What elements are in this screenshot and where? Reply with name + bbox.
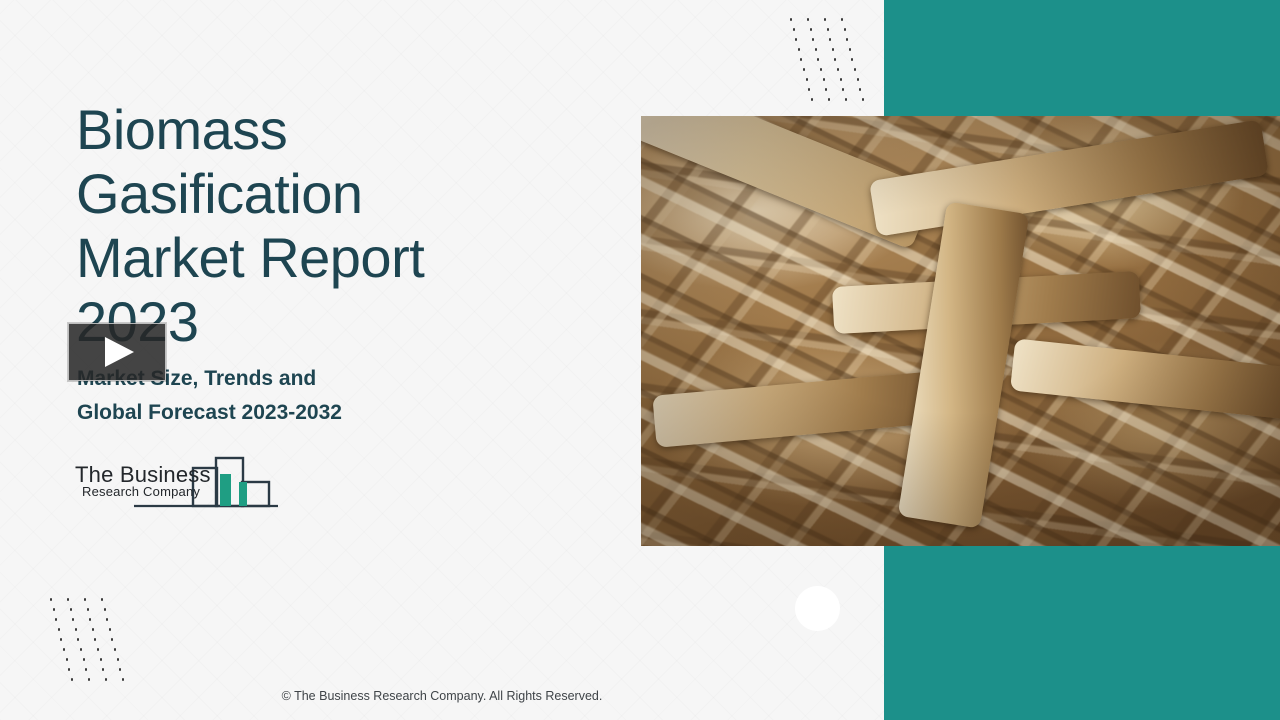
dot [104, 608, 106, 611]
dot [844, 28, 846, 31]
dot [89, 618, 91, 621]
subtitle-line-2: Global Forecast 2023-2032 [77, 396, 477, 430]
dot [100, 658, 102, 661]
dot [75, 628, 77, 631]
dot [83, 658, 85, 661]
dot [811, 98, 813, 101]
page-title: Biomass Gasification Market Report 2023 [76, 98, 496, 354]
dot [798, 48, 800, 51]
dot [854, 68, 856, 71]
dot [84, 598, 86, 601]
video-play-button[interactable] [68, 323, 166, 381]
logo-text-secondary: Research Company [82, 484, 200, 499]
dot [842, 88, 844, 91]
dot [810, 28, 812, 31]
dot [807, 18, 809, 21]
dot [80, 648, 82, 651]
dot [795, 38, 797, 41]
dot [815, 48, 817, 51]
dot [60, 638, 62, 641]
play-triangle-icon [105, 337, 134, 367]
dot [828, 98, 830, 101]
dot [806, 78, 808, 81]
hero-image-biomass [641, 116, 1280, 546]
dot [820, 68, 822, 71]
dot [105, 678, 107, 681]
dot [800, 58, 802, 61]
dot [827, 28, 829, 31]
footer-copyright: © The Business Research Company. All Rig… [0, 689, 884, 703]
dot [114, 648, 116, 651]
dot [840, 78, 842, 81]
dot [862, 98, 864, 101]
dot [846, 38, 848, 41]
slide-root: Biomass Gasification Market Report 2023 … [0, 0, 1280, 720]
dot [53, 608, 55, 611]
dot [94, 638, 96, 641]
photo-vignette [641, 116, 1280, 546]
dot [71, 678, 73, 681]
dot [790, 18, 792, 21]
company-logo: The Business Research Company [72, 448, 284, 510]
dot [845, 98, 847, 101]
dot [817, 58, 819, 61]
dot [92, 628, 94, 631]
dot [68, 668, 70, 671]
dot [106, 618, 108, 621]
dot-pattern-top-right [790, 18, 860, 113]
dot [824, 18, 826, 21]
dot [857, 78, 859, 81]
dot [97, 648, 99, 651]
dot [88, 678, 90, 681]
dot [50, 598, 52, 601]
dot [803, 68, 805, 71]
dot [58, 628, 60, 631]
dot [55, 618, 57, 621]
dot [109, 628, 111, 631]
dot [849, 48, 851, 51]
dot [851, 58, 853, 61]
dot-pattern-bottom-left [50, 598, 120, 693]
dot [102, 668, 104, 671]
dot [823, 78, 825, 81]
dot [77, 638, 79, 641]
dot [117, 658, 119, 661]
dot [63, 648, 65, 651]
dot [70, 608, 72, 611]
dot [841, 18, 843, 21]
dot [825, 88, 827, 91]
dot [72, 618, 74, 621]
dot [832, 48, 834, 51]
dot [829, 38, 831, 41]
dot [85, 668, 87, 671]
dot [66, 658, 68, 661]
dot [837, 68, 839, 71]
dot [67, 598, 69, 601]
dot [793, 28, 795, 31]
dot [87, 608, 89, 611]
dot [812, 38, 814, 41]
dot [122, 678, 124, 681]
dot [101, 598, 103, 601]
dot [808, 88, 810, 91]
dot [834, 58, 836, 61]
white-circle-accent [795, 586, 840, 631]
dot [111, 638, 113, 641]
